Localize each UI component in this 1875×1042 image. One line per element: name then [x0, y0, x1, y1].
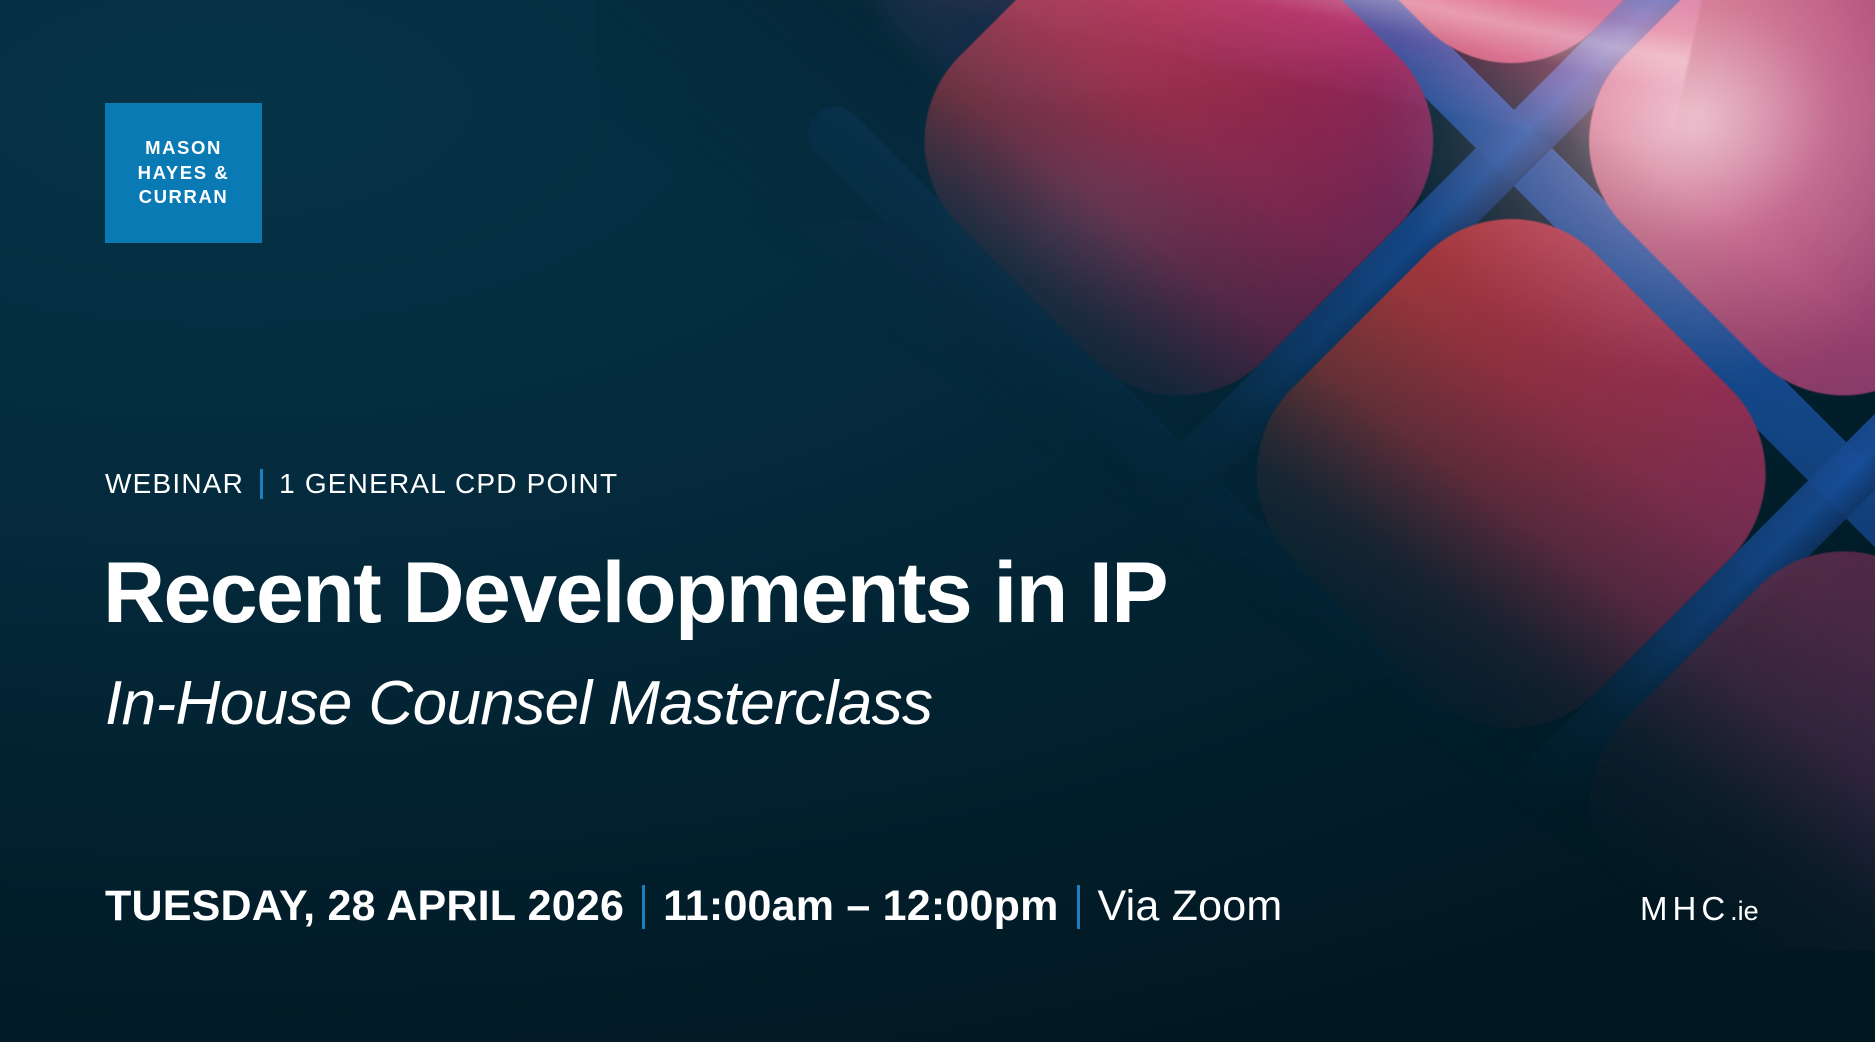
artwork-prism-slab	[514, 0, 1737, 159]
eyebrow-divider	[260, 469, 263, 499]
abstract-artwork-graphic	[595, 0, 1875, 950]
event-location: Via Zoom	[1098, 882, 1283, 931]
mhc-wordmark-tld: .ie	[1730, 896, 1759, 926]
artwork-tile-8	[1539, 502, 1875, 1042]
artwork-tile-2	[875, 0, 1483, 445]
page-title: Recent Developments in IP	[103, 548, 1167, 638]
artwork-secondary-glow	[805, 30, 1325, 450]
event-date: TUESDAY, 28 APRIL 2026	[105, 882, 624, 931]
logo-line-3: CURRAN	[139, 188, 229, 207]
eyebrow-line: WEBINAR 1 GENERAL CPD POINT	[105, 468, 618, 500]
event-details-line: TUESDAY, 28 APRIL 2026 11:00am – 12:00pm…	[105, 882, 1282, 931]
cpd-points-label: 1 GENERAL CPD POINT	[279, 468, 618, 500]
details-divider-2	[1077, 885, 1080, 929]
event-type-label: WEBINAR	[105, 468, 244, 500]
artwork-tile-7	[1207, 834, 1815, 1042]
artwork-highlight-glow	[1385, 0, 1875, 380]
artwork-prism-sheen	[812, 0, 1578, 126]
artwork-tile-5	[1207, 169, 1815, 777]
event-promo-banner: MASON HAYES & CURRAN WEBINAR 1 GENERAL C…	[0, 0, 1875, 1042]
logo-line-1: MASON	[145, 139, 222, 158]
mason-hayes-curran-logo[interactable]: MASON HAYES & CURRAN	[105, 103, 262, 243]
artwork-channel-vertical-2	[1129, 0, 1875, 862]
artwork-channel-horizontal-1	[762, 0, 1875, 900]
mhc-website-wordmark[interactable]: MHC.ie	[1640, 890, 1759, 928]
artwork-tile-3	[1207, 0, 1815, 113]
artwork-blend-veil	[595, 0, 1875, 950]
mhc-wordmark-text: MHC	[1640, 890, 1730, 927]
page-subtitle: In-House Counsel Masterclass	[105, 670, 932, 738]
artwork-tile-6	[1539, 0, 1875, 445]
details-divider-1	[642, 885, 645, 929]
logo-line-2: HAYES &	[138, 164, 230, 183]
event-time: 11:00am – 12:00pm	[663, 882, 1058, 931]
